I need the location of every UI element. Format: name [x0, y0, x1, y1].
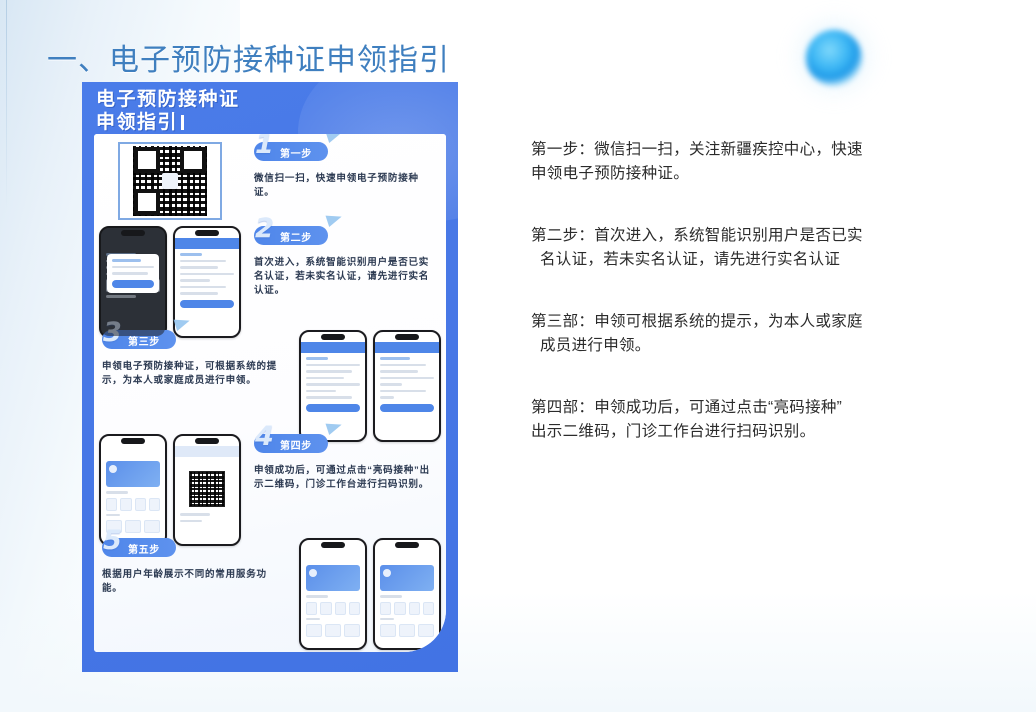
- poster-step-5-media: [294, 538, 446, 650]
- phone-dialog-button: [112, 280, 154, 288]
- phone-service-grid-2: [306, 624, 360, 637]
- poster-step-4-badge: 4 第四步: [254, 434, 328, 453]
- poster-image: 电子预防接种证 申领指引 1 第一步: [82, 82, 458, 672]
- poster-step-2-media: [94, 226, 246, 338]
- qr-code-icon: [118, 142, 222, 220]
- poster-step-2-body: 首次进入，系统智能识别用户是否已实名认证，若未实名认证，请先进行实名认证。: [254, 256, 438, 298]
- phone-notch: [195, 438, 219, 444]
- qr-eye-bottom-left: [134, 189, 160, 215]
- poster-step-4: 4 第四步 申领成功后，可通过点击“亮码接种”出示二维码，门诊工作台进行扫码识别…: [94, 434, 446, 546]
- instruction-step-2-line1: 第二步：首次进入，系统智能识别用户是否已实: [531, 224, 951, 248]
- instruction-step-1-line1: 第一步：微信扫一扫，关注新疆疾控中心，快速: [531, 138, 951, 162]
- poster-step-5: 5 第五步 根据用户年龄展示不同的常用服务功能。: [94, 538, 446, 650]
- phone-submit-button: [306, 404, 360, 412]
- phone-screen: [375, 353, 439, 440]
- phone-service-grid: [106, 498, 160, 511]
- poster-step-1-media: [94, 142, 246, 220]
- poster-step-1-badge: 1 第一步: [254, 142, 328, 161]
- poster-step-5-text: 5 第五步 根据用户年龄展示不同的常用服务功能。: [94, 538, 294, 596]
- background-left-rule: [6, 0, 7, 210]
- poster-step-3-media: [294, 330, 446, 442]
- poster-step-5-label: 第五步: [128, 541, 160, 556]
- poster-step-3-text: 3 第三步 申领电子预防接种证，可根据系统的提示，为本人或家庭成员进行申领。: [94, 330, 294, 388]
- phone-screen: [301, 561, 365, 648]
- instruction-step-3-line1: 第三部：申领可根据系统的提示，为本人或家庭: [531, 310, 951, 334]
- phone-hero-card: [306, 565, 360, 591]
- instruction-step-4-line2: 出示二维码，门诊工作台进行扫码识别。: [531, 420, 951, 444]
- phone-mockup: [373, 538, 441, 650]
- phone-screen: [175, 457, 239, 544]
- decorative-orb-icon: [806, 30, 862, 86]
- page-title: 一、电子预防接种证申领指引: [47, 35, 450, 79]
- phone-notch: [395, 334, 419, 340]
- poster-card: 1 第一步 微信扫一扫，快速申领电子预防接种证。: [94, 134, 446, 652]
- phone-notch: [121, 438, 145, 444]
- qr-code-icon: [189, 471, 225, 507]
- poster-title-line2-wrap: 申领指引: [96, 111, 458, 134]
- phone-mockup: [173, 434, 241, 546]
- poster-step-2-label: 第二步: [280, 229, 312, 244]
- poster-step-1: 1 第一步 微信扫一扫，快速申领电子预防接种证。: [94, 142, 446, 220]
- phone-mockup: [373, 330, 441, 442]
- poster-step-5-body: 根据用户年龄展示不同的常用服务功能。: [102, 568, 286, 596]
- paper-plane-icon: [326, 134, 344, 143]
- poster-step-4-number: 4: [255, 423, 274, 450]
- phone-submit-button: [380, 404, 434, 412]
- phone-notch: [195, 230, 219, 236]
- poster-step-4-body: 申领成功后，可通过点击“亮码接种”出示二维码，门诊工作台进行扫码识别。: [254, 464, 438, 492]
- phone-hero-card: [106, 461, 160, 487]
- poster-title-line2: 申领指引: [96, 112, 178, 133]
- phone-service-grid: [306, 602, 360, 615]
- phone-service-grid: [380, 602, 434, 615]
- phone-service-grid-2: [380, 624, 434, 637]
- instruction-step-1-line2: 申领电子预防接种证。: [531, 162, 951, 186]
- phone-app-bar: [175, 238, 239, 249]
- instruction-step-4: 第四部：申领成功后，可通过点击“亮码接种” 出示二维码，门诊工作台进行扫码识别。: [531, 396, 951, 444]
- qr-center-logo: [162, 173, 178, 189]
- phone-mockup: [99, 226, 167, 338]
- phone-notch: [321, 334, 345, 340]
- phone-dialog: [107, 254, 159, 293]
- poster-step-4-text: 4 第四步 申领成功后，可通过点击“亮码接种”出示二维码，门诊工作台进行扫码识别…: [246, 434, 446, 492]
- poster-step-1-number: 1: [255, 134, 274, 158]
- poster-step-1-body: 微信扫一扫，快速申领电子预防接种证。: [254, 172, 438, 200]
- poster-step-5-badge: 5 第五步: [102, 538, 176, 557]
- poster-step-2-badge: 2 第二步: [254, 226, 328, 245]
- phone-notch: [395, 542, 419, 548]
- instruction-step-3-line2: 成员进行申领。: [531, 334, 951, 358]
- slide-canvas: 一、电子预防接种证申领指引 电子预防接种证 申领指引: [0, 0, 1036, 712]
- phone-app-bar: [175, 446, 239, 457]
- phone-app-bar: [301, 342, 365, 353]
- poster-title-caret-icon: [181, 115, 184, 130]
- poster-step-1-label: 第一步: [280, 145, 312, 160]
- poster-step-2-number: 2: [255, 215, 274, 242]
- phone-mockup: [299, 538, 367, 650]
- poster-step-3-body: 申领电子预防接种证，可根据系统的提示，为本人或家庭成员进行申领。: [102, 360, 286, 388]
- phone-hero-card: [380, 565, 434, 591]
- instruction-step-2-line2: 名认证，若未实名认证，请先进行实名认证: [531, 248, 951, 272]
- phone-screen: [375, 561, 439, 648]
- phone-app-bar: [375, 342, 439, 353]
- instruction-step-4-line1: 第四部：申领成功后，可通过点击“亮码接种”: [531, 396, 951, 420]
- poster-header: 电子预防接种证 申领指引: [82, 82, 458, 134]
- phone-submit-button: [180, 300, 234, 308]
- instruction-step-2: 第二步：首次进入，系统智能识别用户是否已实 名认证，若未实名认证，请先进行实名认…: [531, 224, 951, 272]
- phone-notch: [321, 542, 345, 548]
- poster-step-1-text: 1 第一步 微信扫一扫，快速申领电子预防接种证。: [246, 142, 446, 200]
- poster-step-4-label: 第四步: [280, 437, 312, 452]
- poster-step-5-number: 5: [103, 527, 122, 554]
- poster-step-2-text: 2 第二步 首次进入，系统智能识别用户是否已实名认证，若未实名认证，请先进行实名…: [246, 226, 446, 298]
- instruction-step-3: 第三部：申领可根据系统的提示，为本人或家庭 成员进行申领。: [531, 310, 951, 358]
- phone-notch: [121, 230, 145, 236]
- instruction-step-1: 第一步：微信扫一扫，关注新疆疾控中心，快速 申领电子预防接种证。: [531, 138, 951, 186]
- instructions-panel: 第一步：微信扫一扫，关注新疆疾控中心，快速 申领电子预防接种证。 第二步：首次进…: [531, 138, 951, 444]
- poster-title-line1: 电子预防接种证: [96, 88, 458, 111]
- poster-step-2: 2 第二步 首次进入，系统智能识别用户是否已实名认证，若未实名认证，请先进行实名…: [94, 226, 446, 338]
